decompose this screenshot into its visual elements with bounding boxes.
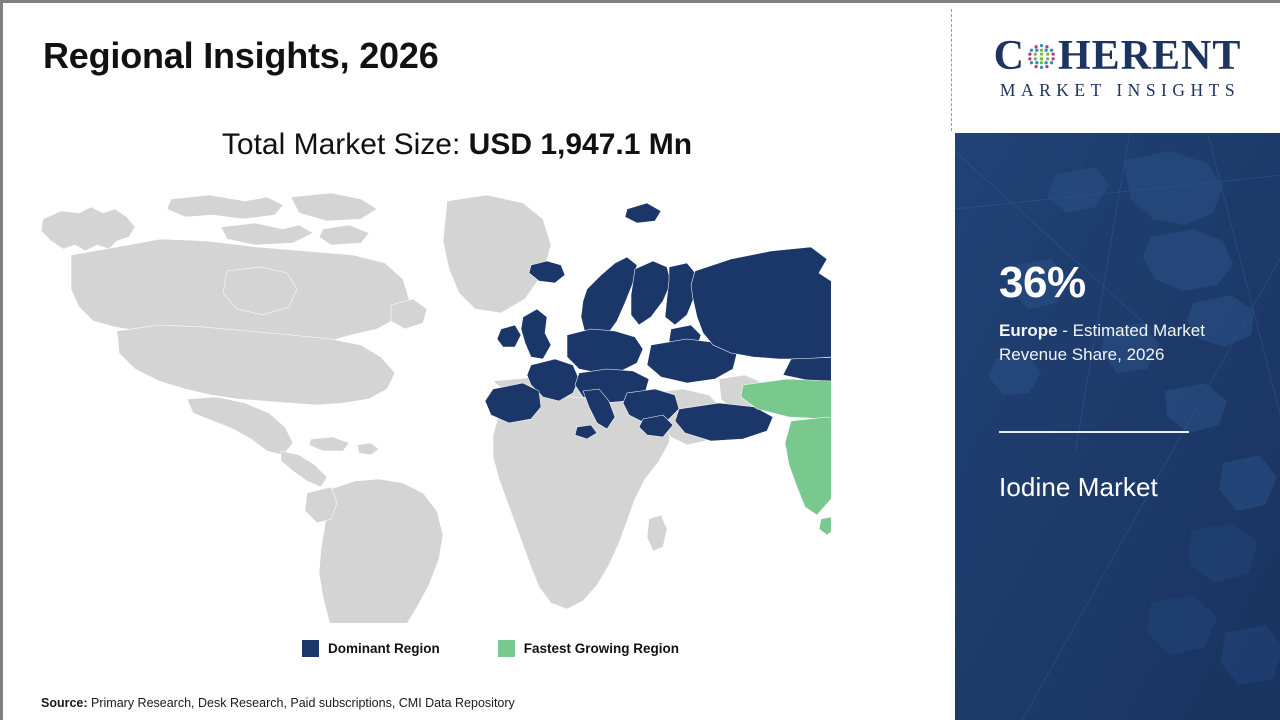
legend-label-dominant: Dominant Region bbox=[328, 641, 440, 656]
map-legend: Dominant Region Fastest Growing Region bbox=[302, 640, 679, 657]
left-content-area: Regional Insights, 2026 Total Market Siz… bbox=[3, 3, 951, 720]
legend-label-fastest-growing: Fastest Growing Region bbox=[524, 641, 679, 656]
logo-letter-c: C bbox=[994, 35, 1025, 77]
total-market-size: Total Market Size: USD 1,947.1 Mn bbox=[3, 128, 911, 162]
dominant-region-swatch bbox=[302, 640, 319, 657]
world-map-svg bbox=[31, 193, 831, 623]
stat-description: Europe - Estimated Market Revenue Share,… bbox=[999, 319, 1263, 367]
legend-item-dominant: Dominant Region bbox=[302, 640, 440, 657]
source-text: Primary Research, Desk Research, Paid su… bbox=[88, 696, 515, 710]
coherent-market-insights-logo: C bbox=[955, 6, 1280, 130]
page-title: Regional Insights, 2026 bbox=[43, 35, 439, 77]
logo-subtitle: MARKET INSIGHTS bbox=[995, 80, 1240, 101]
fastest-growing-region-swatch bbox=[498, 640, 515, 657]
logo-wordmark: C bbox=[994, 35, 1242, 77]
vertical-dashed-divider bbox=[951, 9, 952, 131]
market-name: Iodine Market bbox=[999, 473, 1158, 502]
globe-dots-icon bbox=[1026, 41, 1057, 72]
stat-panel-content: 36% Europe - Estimated Market Revenue Sh… bbox=[999, 133, 1269, 720]
market-size-value: USD 1,947.1 Mn bbox=[469, 128, 692, 161]
legend-item-fastest-growing: Fastest Growing Region bbox=[498, 640, 679, 657]
logo-letters-herent: HERENT bbox=[1058, 35, 1241, 77]
world-map bbox=[31, 193, 831, 623]
source-footer: Source: Primary Research, Desk Research,… bbox=[41, 696, 515, 710]
globe-dots-svg bbox=[1026, 41, 1057, 72]
source-label: Source: bbox=[41, 696, 88, 710]
panel-horizontal-divider bbox=[999, 431, 1189, 433]
infographic-page: Regional Insights, 2026 Total Market Siz… bbox=[0, 0, 1280, 720]
stat-percentage-value: 36% bbox=[999, 261, 1086, 305]
regional-stat-panel: 36% Europe - Estimated Market Revenue Sh… bbox=[955, 133, 1280, 720]
stat-region-name: Europe bbox=[999, 321, 1058, 340]
market-size-label: Total Market Size: bbox=[222, 128, 469, 161]
